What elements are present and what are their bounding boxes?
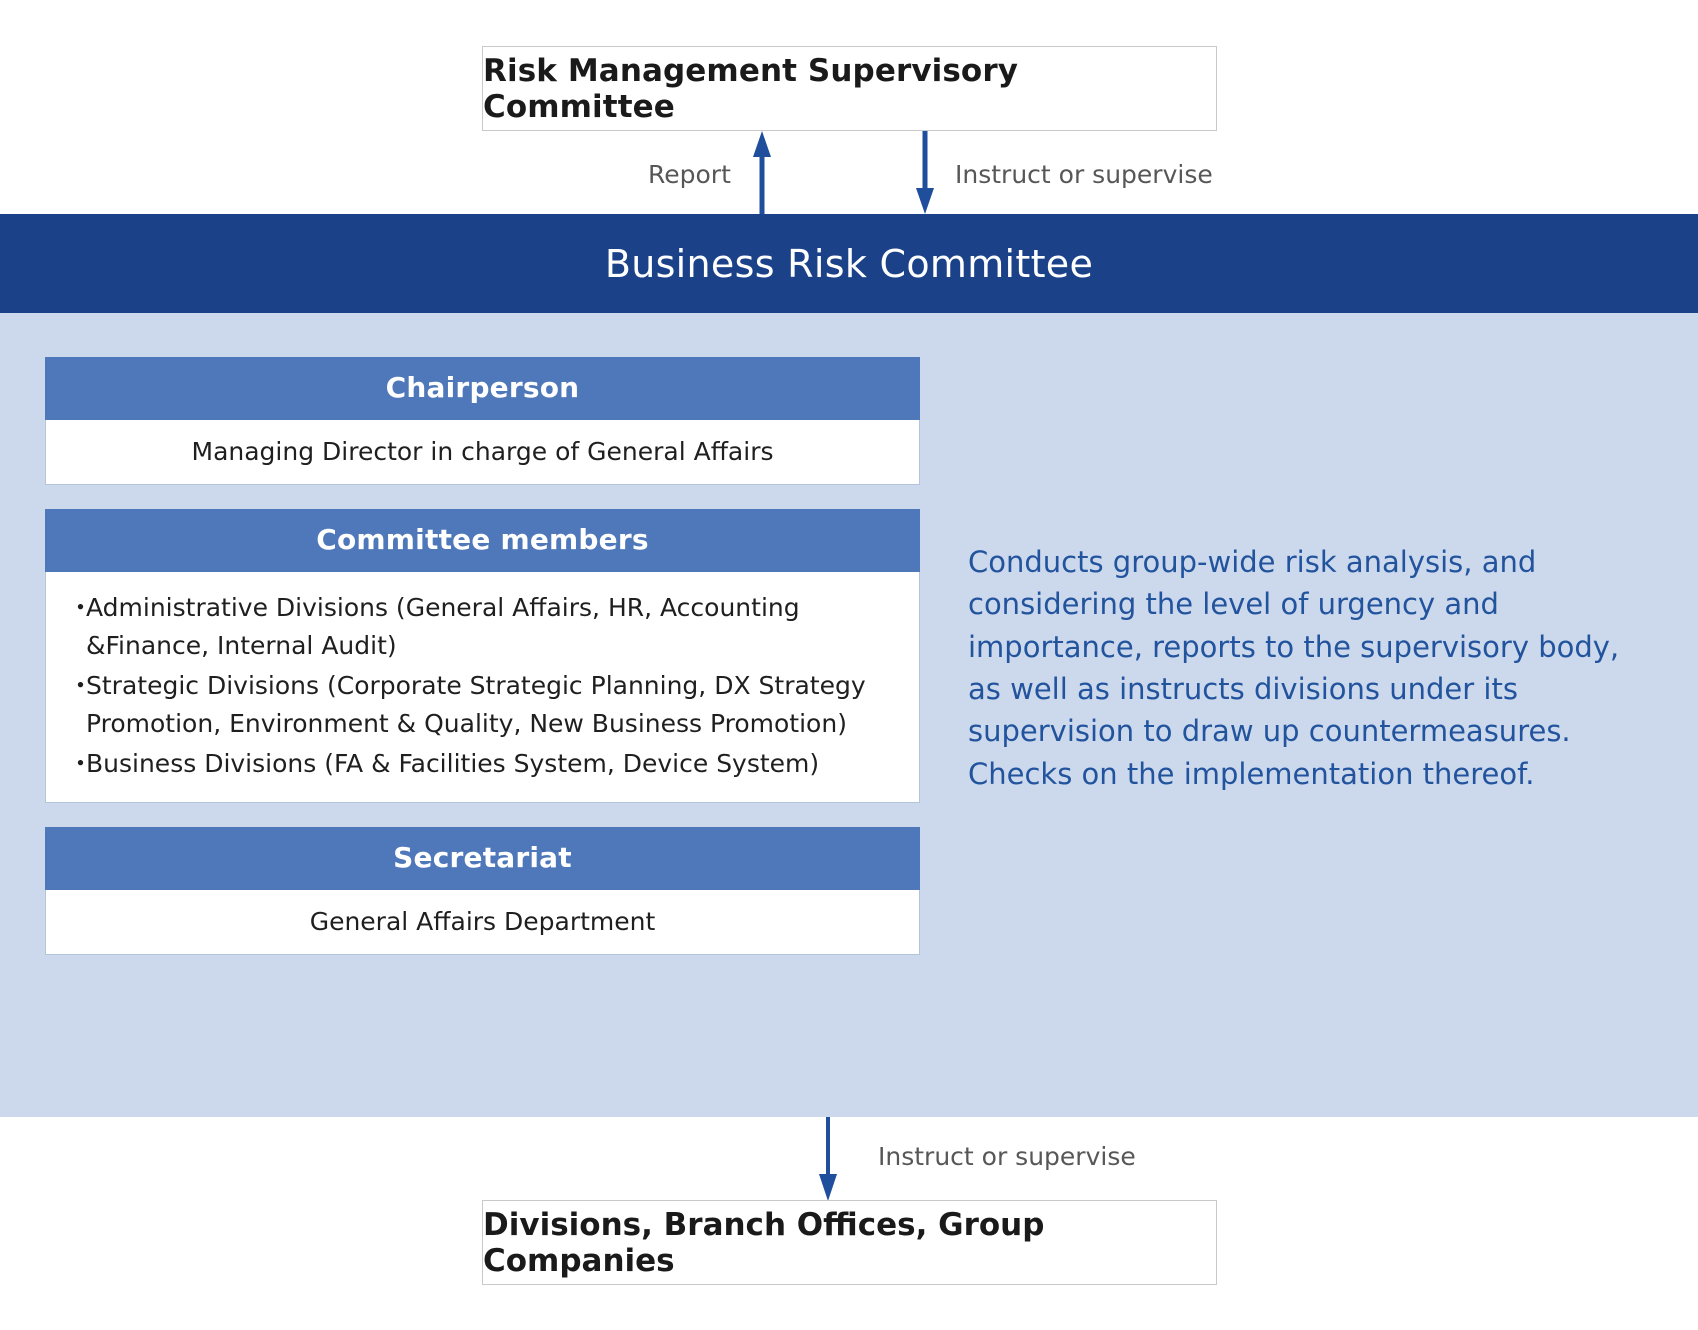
arrow-down-icon bbox=[915, 131, 935, 214]
secretariat-card: Secretariat General Affairs Department bbox=[45, 827, 920, 955]
list-item-label: Strategic Divisions (Corporate Strategic… bbox=[86, 667, 897, 743]
top-box-label: Risk Management Supervisory Committee bbox=[483, 53, 1216, 125]
list-item: ・ Administrative Divisions (General Affa… bbox=[68, 589, 897, 665]
committee-members-card-header: Committee members bbox=[45, 509, 920, 572]
instruct-or-supervise-label-bottom: Instruct or supervise bbox=[878, 1142, 1136, 1171]
chairperson-card-header: Chairperson bbox=[45, 357, 920, 420]
committee-detail-panel: Chairperson Managing Director in charge … bbox=[0, 313, 1698, 1117]
committee-card-column: Chairperson Managing Director in charge … bbox=[45, 357, 920, 955]
list-item: ・ Strategic Divisions (Corporate Strateg… bbox=[68, 667, 897, 743]
bottom-box-label: Divisions, Branch Offices, Group Compani… bbox=[483, 1207, 1216, 1279]
secretariat-card-header: Secretariat bbox=[45, 827, 920, 890]
arrow-up-icon bbox=[752, 131, 772, 214]
chairperson-card-body: Managing Director in charge of General A… bbox=[45, 420, 920, 485]
committee-members-card: Committee members ・ Administrative Divis… bbox=[45, 509, 920, 803]
divisions-branch-offices-group-companies-box: Divisions, Branch Offices, Group Compani… bbox=[482, 1200, 1217, 1285]
risk-management-supervisory-committee-box: Risk Management Supervisory Committee bbox=[482, 46, 1217, 131]
report-label: Report bbox=[648, 160, 731, 189]
bullet-icon: ・ bbox=[68, 745, 86, 783]
banner-label: Business Risk Committee bbox=[605, 242, 1093, 286]
committee-description-text: Conducts group-wide risk analysis, and c… bbox=[968, 541, 1628, 795]
committee-members-card-body: ・ Administrative Divisions (General Affa… bbox=[45, 572, 920, 803]
list-item: ・ Business Divisions (FA & Facilities Sy… bbox=[68, 745, 897, 783]
list-item-label: Administrative Divisions (General Affair… bbox=[86, 589, 897, 665]
bullet-icon: ・ bbox=[68, 667, 86, 743]
list-item-label: Business Divisions (FA & Facilities Syst… bbox=[86, 745, 897, 783]
instruct-or-supervise-label-top: Instruct or supervise bbox=[955, 160, 1213, 189]
arrow-down-icon bbox=[818, 1117, 838, 1201]
business-risk-committee-banner: Business Risk Committee bbox=[0, 214, 1698, 313]
secretariat-card-body: General Affairs Department bbox=[45, 890, 920, 955]
bullet-icon: ・ bbox=[68, 589, 86, 665]
risk-committee-diagram: Risk Management Supervisory Committee Re… bbox=[0, 0, 1698, 1330]
chairperson-card: Chairperson Managing Director in charge … bbox=[45, 357, 920, 485]
